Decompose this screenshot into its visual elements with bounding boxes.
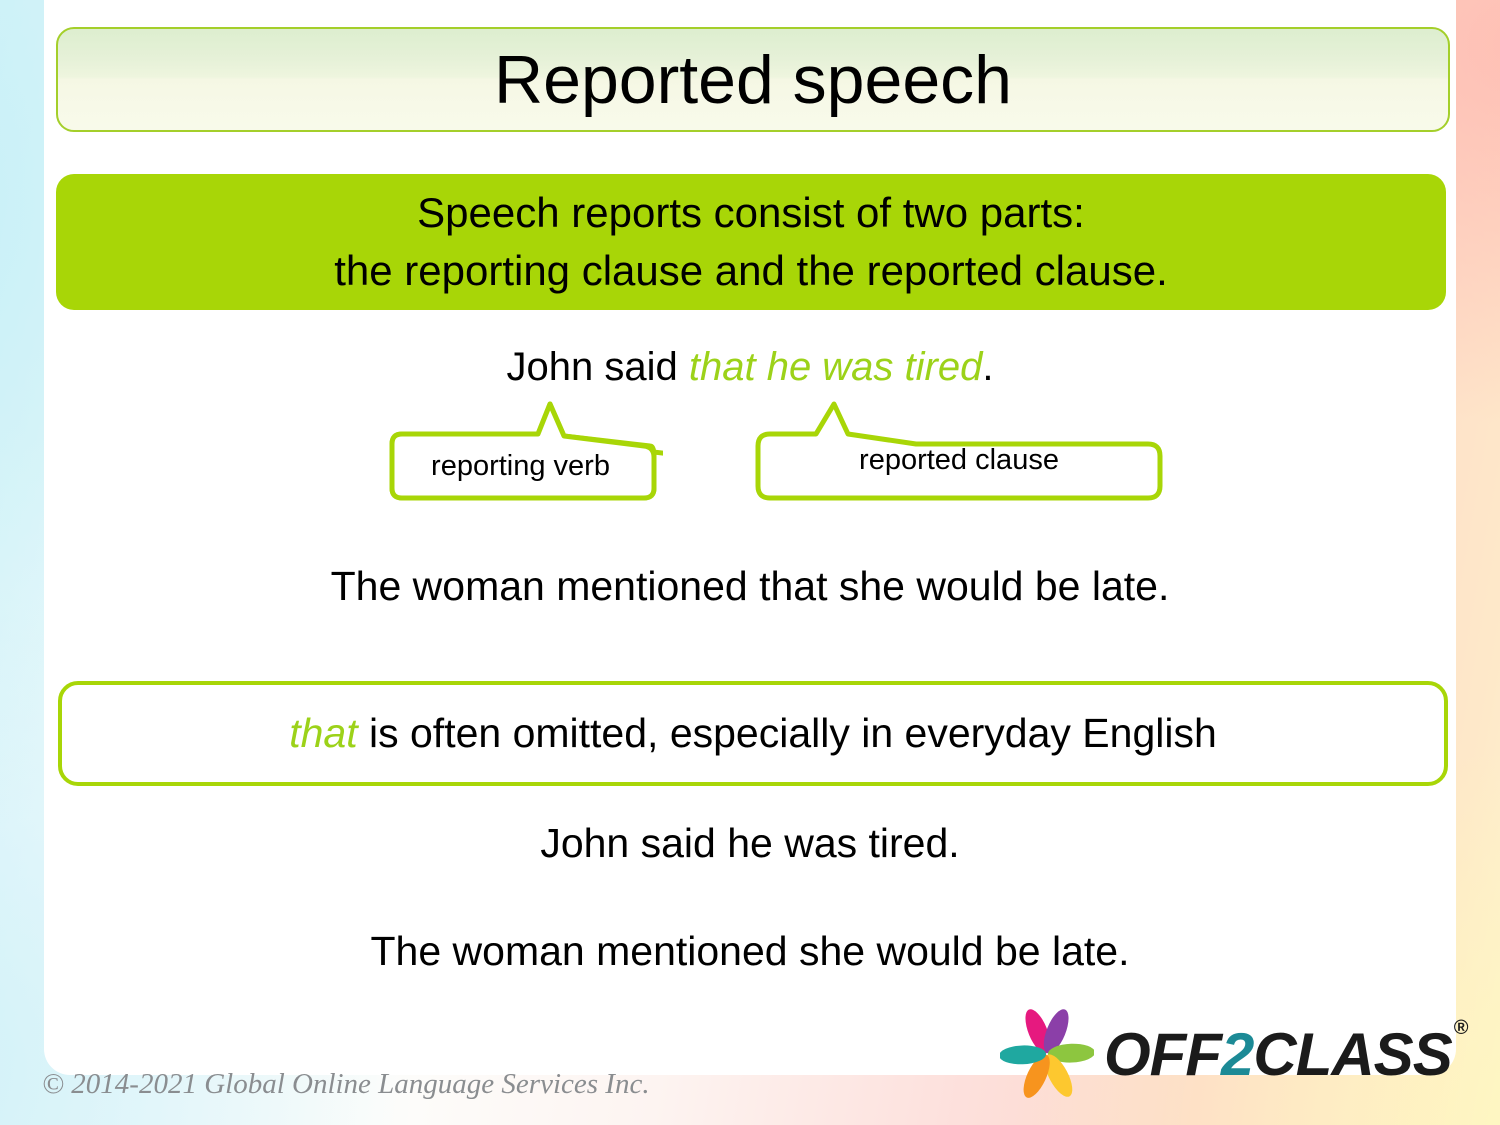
- definition-line-2: the reporting clause and the reported cl…: [334, 242, 1168, 300]
- example-1-highlight: that he was tired: [689, 345, 983, 389]
- example-sentence-3: John said he was tired.: [0, 820, 1500, 867]
- slide-canvas: Reported speech Speech reports consist o…: [0, 0, 1500, 1125]
- callout-reporting-verb-label: reporting verb: [378, 450, 663, 483]
- logo-word-off: OFF: [1104, 1021, 1221, 1088]
- callout-reporting-verb: reporting verb: [378, 400, 663, 505]
- example-sentence-2: The woman mentioned that she would be la…: [0, 563, 1500, 610]
- rule-text: that is often omitted, especially in eve…: [289, 710, 1217, 757]
- callout-reported-clause: reported clause: [750, 400, 1168, 505]
- rule-box: that is often omitted, especially in eve…: [58, 681, 1448, 786]
- example-sentence-4: The woman mentioned she would be late.: [0, 928, 1500, 975]
- definition-banner: Speech reports consist of two parts: the…: [56, 174, 1446, 310]
- logo-wordmark: OFF2CLASS®: [1104, 1020, 1465, 1089]
- content-card: [44, 0, 1456, 1075]
- example-1-suffix: .: [982, 345, 993, 389]
- brand-logo: OFF2CLASS®: [1000, 1006, 1450, 1102]
- logo-word-two: 2: [1221, 1021, 1253, 1088]
- title-plate: Reported speech: [56, 27, 1450, 132]
- copyright-notice: © 2014-2021 Global Online Language Servi…: [42, 1068, 650, 1101]
- page-title: Reported speech: [494, 46, 1012, 114]
- rule-rest: is often omitted, especially in everyday…: [358, 710, 1217, 756]
- rule-highlight: that: [289, 710, 357, 756]
- example-1-prefix: John said: [507, 345, 689, 389]
- example-sentence-1: John said that he was tired.: [0, 345, 1500, 390]
- registered-trademark-icon: ®: [1454, 1017, 1468, 1039]
- definition-line-1: Speech reports consist of two parts:: [417, 184, 1085, 242]
- flower-petals-icon: [1000, 1007, 1094, 1101]
- callout-reported-clause-label: reported clause: [750, 444, 1168, 477]
- logo-word-class: CLASS: [1253, 1021, 1451, 1088]
